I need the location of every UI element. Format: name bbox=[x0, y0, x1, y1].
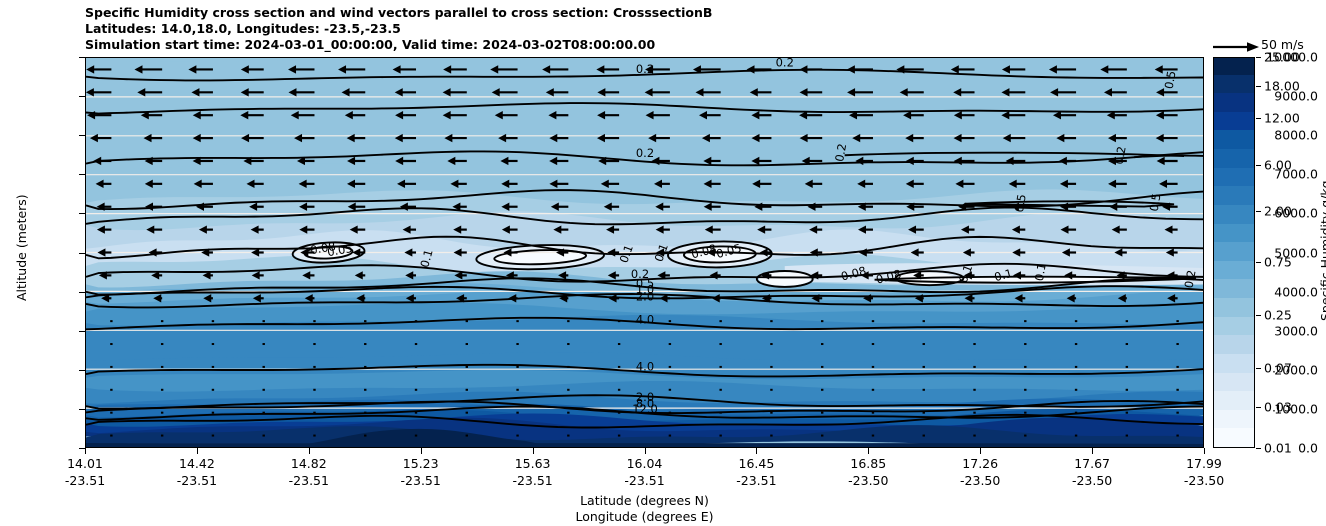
colorbar-band bbox=[1214, 222, 1254, 242]
wind-vector-dot bbox=[1024, 343, 1026, 345]
wind-vector-head bbox=[857, 180, 865, 188]
wind-vector-head bbox=[1155, 65, 1163, 73]
wind-vector-head bbox=[1108, 180, 1116, 188]
wind-vector-dot bbox=[618, 366, 620, 368]
y-tick-mark bbox=[79, 135, 85, 136]
x-tick-mark bbox=[756, 448, 757, 454]
humidity-field: 0.20.20.20.20.20.50.50.50.10.050.080.10.… bbox=[86, 58, 1203, 447]
wind-vector-head bbox=[97, 225, 105, 233]
wind-vector-head bbox=[193, 111, 201, 119]
wind-vector-head bbox=[395, 157, 403, 165]
wind-vector-head bbox=[705, 225, 713, 233]
wind-vector-head bbox=[302, 271, 310, 279]
wind-vector-dot bbox=[415, 343, 417, 345]
wind-vector-dot bbox=[1176, 343, 1178, 345]
wind-vector-head bbox=[799, 65, 807, 73]
wind-vector-dot bbox=[212, 389, 214, 391]
wind-vector-dot bbox=[1075, 389, 1077, 391]
wind-vector-head bbox=[655, 203, 663, 211]
wind-vector-head bbox=[93, 157, 101, 165]
wind-vector-head bbox=[855, 157, 863, 165]
wind-vector-head bbox=[609, 294, 617, 302]
wind-vector-head bbox=[305, 294, 313, 302]
wind-vector-dot bbox=[973, 435, 975, 437]
wind-vector-head bbox=[645, 88, 653, 96]
wind-vector-dot bbox=[1176, 366, 1178, 368]
wind-vector-dot bbox=[923, 412, 925, 414]
wind-vector-head bbox=[951, 65, 959, 73]
x-tick-label-latitude: 16.85 bbox=[850, 456, 886, 471]
wind-vector-dot bbox=[821, 366, 823, 368]
wind-vector-head bbox=[456, 294, 464, 302]
wind-vector-head bbox=[97, 248, 105, 256]
wind-vector-dot bbox=[364, 435, 366, 437]
wind-vector-dot bbox=[1024, 435, 1026, 437]
wind-vector-dot bbox=[1075, 320, 1077, 322]
wind-vector-dot bbox=[618, 412, 620, 414]
wind-vector-head bbox=[199, 225, 207, 233]
wind-vector-head bbox=[1162, 203, 1170, 211]
y-tick-mark bbox=[79, 96, 85, 97]
wind-vector-head bbox=[656, 225, 664, 233]
wind-vector-head bbox=[606, 225, 614, 233]
wind-vector-dot bbox=[516, 343, 518, 345]
wind-vector-dot bbox=[263, 412, 265, 414]
wind-vector-head bbox=[141, 111, 149, 119]
x-tick-label-longitude: -23.51 bbox=[512, 473, 552, 488]
wind-vector-head bbox=[810, 271, 818, 279]
wind-vector-head bbox=[146, 225, 154, 233]
colorbar[interactable] bbox=[1213, 57, 1255, 448]
wind-vector-head bbox=[1011, 203, 1019, 211]
wind-vector-dot bbox=[719, 320, 721, 322]
wind-vector-head bbox=[453, 225, 461, 233]
wind-vector-dot bbox=[1075, 366, 1077, 368]
wind-vector-head bbox=[954, 134, 962, 142]
wind-vector-head bbox=[896, 65, 904, 73]
wind-vector-dot bbox=[1126, 320, 1128, 322]
wind-vector-head bbox=[906, 203, 914, 211]
x-tick-mark bbox=[868, 448, 869, 454]
wind-vector-head bbox=[1049, 65, 1057, 73]
wind-vector-head bbox=[400, 203, 408, 211]
colorbar-tick-label: 2.00 bbox=[1264, 204, 1292, 219]
x-tick-label-longitude: -23.51 bbox=[177, 473, 217, 488]
wind-vector-dot bbox=[618, 389, 620, 391]
wind-vector-head bbox=[338, 65, 346, 73]
wind-vector-head bbox=[597, 88, 605, 96]
wind-vector-head bbox=[241, 88, 249, 96]
wind-vector-head bbox=[808, 203, 816, 211]
wind-vector-head bbox=[858, 225, 866, 233]
wind-vector-head bbox=[288, 88, 296, 96]
wind-vector-dot bbox=[1176, 435, 1178, 437]
wind-vector-head bbox=[859, 248, 867, 256]
wind-vector-dot bbox=[364, 389, 366, 391]
wind-vector-dot bbox=[110, 389, 112, 391]
y-tick-label: 3000.0 bbox=[1274, 323, 1318, 338]
wind-vector-head bbox=[852, 134, 860, 142]
wind-vector-head bbox=[134, 65, 142, 73]
wind-vector-dot bbox=[364, 320, 366, 322]
wind-vector-dot bbox=[1075, 435, 1077, 437]
colorbar-band bbox=[1214, 148, 1254, 168]
wind-vector-head bbox=[704, 203, 712, 211]
colorbar-tick-mark bbox=[1256, 262, 1261, 263]
wind-vector-head bbox=[656, 248, 664, 256]
wind-vector-head bbox=[559, 294, 567, 302]
wind-vector-head bbox=[597, 111, 605, 119]
wind-vector-head bbox=[955, 180, 963, 188]
colorbar-tick-mark bbox=[1256, 407, 1261, 408]
wind-vector-head bbox=[556, 248, 564, 256]
x-tick-label-latitude: 14.82 bbox=[291, 456, 327, 471]
colorbar-band bbox=[1214, 427, 1254, 447]
wind-vector-head bbox=[1118, 294, 1126, 302]
wind-vector-head bbox=[961, 225, 969, 233]
y-tick-mark bbox=[79, 331, 85, 332]
wind-vector-dot bbox=[1024, 389, 1026, 391]
y-tick-mark bbox=[79, 370, 85, 371]
x-tick-label-latitude: 17.99 bbox=[1186, 456, 1222, 471]
wind-vector-head bbox=[908, 225, 916, 233]
wind-vector-dot bbox=[872, 389, 874, 391]
wind-vector-head bbox=[342, 88, 350, 96]
colorbar-band bbox=[1214, 57, 1254, 75]
colorbar-band bbox=[1214, 241, 1254, 261]
y-tick-label: 8000.0 bbox=[1274, 128, 1318, 143]
wind-vector-head bbox=[299, 180, 307, 188]
x-tick-label-longitude: -23.50 bbox=[848, 473, 888, 488]
wind-vector-dot bbox=[466, 435, 468, 437]
wind-vector-dot bbox=[1126, 435, 1128, 437]
title-line-1: Specific Humidity cross section and wind… bbox=[85, 5, 1215, 21]
wind-vector-head bbox=[397, 180, 405, 188]
colorbar-tick-mark bbox=[1256, 86, 1261, 87]
wind-vector-head bbox=[900, 88, 908, 96]
right-arrow-icon bbox=[1213, 40, 1259, 54]
wind-vector-dot bbox=[516, 435, 518, 437]
x-tick-mark bbox=[1204, 448, 1205, 454]
wind-vector-dot bbox=[567, 343, 569, 345]
wind-vector-head bbox=[549, 134, 557, 142]
wind-vector-dot bbox=[212, 366, 214, 368]
wind-vector-head bbox=[151, 271, 159, 279]
colorbar-tick-label: 12.00 bbox=[1264, 110, 1300, 125]
wind-vector-head bbox=[657, 271, 665, 279]
wind-vector-head bbox=[194, 180, 202, 188]
wind-vector-head bbox=[1015, 294, 1023, 302]
wind-vector-dot bbox=[669, 320, 671, 322]
wind-vector-dot bbox=[263, 366, 265, 368]
wind-vector-dot bbox=[415, 320, 417, 322]
wind-vector-head bbox=[193, 134, 201, 142]
wind-vector-head bbox=[447, 157, 455, 165]
colorbar-band bbox=[1214, 334, 1254, 354]
wind-vector-dot bbox=[466, 412, 468, 414]
wind-vector-dot bbox=[770, 412, 772, 414]
wind-vector-dot bbox=[821, 435, 823, 437]
wind-vector-head bbox=[1107, 111, 1115, 119]
wind-vector-head bbox=[1053, 111, 1061, 119]
colorbar-tick-label: 0.75 bbox=[1264, 255, 1292, 270]
wind-vector-head bbox=[352, 248, 360, 256]
wind-vector-head bbox=[646, 111, 654, 119]
wind-vector-dot bbox=[872, 366, 874, 368]
wind-vector-head bbox=[288, 65, 296, 73]
wind-vector-head bbox=[1064, 271, 1072, 279]
wind-vector-dot bbox=[1126, 343, 1128, 345]
wind-vector-head bbox=[1060, 203, 1068, 211]
wind-vector-dot bbox=[466, 320, 468, 322]
wind-vector-head bbox=[703, 157, 711, 165]
wind-vector-dot bbox=[567, 320, 569, 322]
x-axis-label-longitude: Longitude (degrees E) bbox=[575, 509, 713, 524]
colorbar-tick-label: 18.00 bbox=[1264, 79, 1300, 94]
wind-vector-head bbox=[702, 134, 710, 142]
wind-vector-head bbox=[498, 134, 506, 142]
wind-vector-dot bbox=[415, 389, 417, 391]
colorbar-band bbox=[1214, 408, 1254, 428]
wind-vector-head bbox=[964, 294, 972, 302]
wind-vector-head bbox=[443, 88, 451, 96]
wind-vector-head bbox=[395, 111, 403, 119]
wind-vector-head bbox=[799, 111, 807, 119]
wind-vector-head bbox=[404, 248, 412, 256]
wind-vector-head bbox=[240, 111, 248, 119]
wind-vector-dot bbox=[364, 412, 366, 414]
wind-vector-head bbox=[249, 203, 257, 211]
wind-vector-dot bbox=[516, 320, 518, 322]
wind-vector-dot bbox=[466, 366, 468, 368]
colorbar-band bbox=[1214, 315, 1254, 335]
wind-vector-head bbox=[548, 111, 556, 119]
wind-vector-head bbox=[299, 225, 307, 233]
wind-vector-head bbox=[356, 294, 364, 302]
wind-vector-head bbox=[597, 134, 605, 142]
wind-vector-head bbox=[144, 134, 152, 142]
wind-vector-head bbox=[1067, 294, 1075, 302]
wind-vector-head bbox=[501, 203, 509, 211]
wind-vector-head bbox=[802, 157, 810, 165]
wind-vector-head bbox=[291, 111, 299, 119]
wind-vector-dot bbox=[1126, 389, 1128, 391]
wind-vector-head bbox=[915, 294, 923, 302]
wind-vector-head bbox=[350, 225, 358, 233]
wind-vector-dot bbox=[669, 366, 671, 368]
x-tick-label-latitude: 15.63 bbox=[515, 456, 551, 471]
wind-vector-head bbox=[1156, 134, 1164, 142]
wind-vector-dot bbox=[313, 320, 315, 322]
wind-vector-head bbox=[201, 248, 209, 256]
wind-vector-dot bbox=[770, 343, 772, 345]
wind-vector-dot bbox=[923, 320, 925, 322]
wind-vector-head bbox=[800, 134, 808, 142]
wind-vector-head bbox=[454, 248, 462, 256]
title-line-2: Latitudes: 14.0,18.0, Longitudes: -23.5,… bbox=[85, 21, 1215, 37]
wind-vector-head bbox=[86, 65, 94, 73]
colorbar-band bbox=[1214, 110, 1254, 130]
y-axis-label: Altitude (meters) bbox=[14, 194, 29, 301]
x-tick-mark bbox=[645, 448, 646, 454]
wind-vector-head bbox=[905, 134, 913, 142]
wind-vector-head bbox=[954, 111, 962, 119]
wind-vector-head bbox=[1001, 111, 1009, 119]
wind-vector-head bbox=[1165, 225, 1173, 233]
wind-vector-head bbox=[1003, 134, 1011, 142]
wind-vector-head bbox=[805, 180, 813, 188]
colorbar-band bbox=[1214, 278, 1254, 298]
wind-vector-dot bbox=[263, 320, 265, 322]
wind-vector-head bbox=[405, 271, 413, 279]
wind-vector-head bbox=[1108, 134, 1116, 142]
y-tick-mark bbox=[79, 213, 85, 214]
colorbar-band bbox=[1214, 129, 1254, 149]
wind-vector-head bbox=[1059, 157, 1067, 165]
wind-vector-head bbox=[558, 271, 566, 279]
colorbar-band bbox=[1214, 353, 1254, 373]
y-tick-mark bbox=[79, 409, 85, 410]
wind-vector-dot bbox=[1126, 366, 1128, 368]
x-tick-label-longitude: -23.51 bbox=[289, 473, 329, 488]
wind-vector-dot bbox=[669, 435, 671, 437]
wind-vector-dot bbox=[1176, 320, 1178, 322]
wind-vector-head bbox=[752, 134, 760, 142]
wind-vector-head bbox=[1156, 88, 1164, 96]
wind-vector-dot bbox=[516, 412, 518, 414]
wind-vector-head bbox=[712, 294, 720, 302]
x-tick-mark bbox=[980, 448, 981, 454]
wind-vector-dot bbox=[567, 366, 569, 368]
wind-vector-head bbox=[96, 180, 104, 188]
wind-vector-head bbox=[953, 88, 961, 96]
wind-vector-head bbox=[247, 180, 255, 188]
wind-vector-dot bbox=[770, 366, 772, 368]
x-tick-label-latitude: 17.67 bbox=[1074, 456, 1110, 471]
wind-vector-dot bbox=[313, 343, 315, 345]
x-tick-label-longitude: -23.51 bbox=[736, 473, 776, 488]
wind-vector-head bbox=[502, 225, 510, 233]
wind-vector-head bbox=[752, 180, 760, 188]
colorbar-band bbox=[1214, 166, 1254, 186]
wind-vector-dot bbox=[212, 320, 214, 322]
wind-vector-dot bbox=[263, 435, 265, 437]
colorbar-band bbox=[1214, 371, 1254, 391]
wind-vector-head bbox=[1056, 134, 1064, 142]
wind-vector-head bbox=[137, 88, 145, 96]
y-tick-label: 4000.0 bbox=[1274, 284, 1318, 299]
x-tick-label-latitude: 15.23 bbox=[403, 456, 439, 471]
wind-vector-head bbox=[551, 203, 559, 211]
colorbar-tick-label: 0.07 bbox=[1264, 360, 1292, 375]
wind-vector-head bbox=[355, 271, 363, 279]
wind-vector-dot bbox=[466, 389, 468, 391]
wind-vector-dot bbox=[618, 320, 620, 322]
figure-title: Specific Humidity cross section and wind… bbox=[85, 5, 1215, 54]
colorbar-tick-label: 0.03 bbox=[1264, 399, 1292, 414]
wind-vector-dot bbox=[973, 343, 975, 345]
wind-vector-dot bbox=[872, 343, 874, 345]
wind-vector-dot bbox=[1075, 343, 1077, 345]
wind-vector-head bbox=[660, 294, 668, 302]
wind-vector-head bbox=[762, 294, 770, 302]
wind-vector-head bbox=[542, 65, 550, 73]
wind-vector-dot bbox=[923, 389, 925, 391]
y-tick-mark bbox=[79, 174, 85, 175]
colorbar-tick-mark bbox=[1256, 448, 1261, 449]
wind-vector-head bbox=[90, 134, 98, 142]
wind-vector-dot bbox=[1126, 412, 1128, 414]
wind-vector-dot bbox=[161, 343, 163, 345]
wind-vector-head bbox=[1001, 88, 1009, 96]
wind-vector-head bbox=[810, 248, 818, 256]
wind-vector-head bbox=[501, 180, 509, 188]
x-tick-mark bbox=[1092, 448, 1093, 454]
x-tick-label-longitude: -23.50 bbox=[960, 473, 1000, 488]
wind-vector-head bbox=[1062, 248, 1070, 256]
cross-section-plot[interactable]: 0.20.20.20.20.20.50.50.50.10.050.080.10.… bbox=[85, 57, 1204, 448]
wind-vector-head bbox=[549, 157, 557, 165]
wind-vector-head bbox=[86, 88, 94, 96]
colorbar-tick-label: 0.25 bbox=[1264, 308, 1292, 323]
wind-vector-dot bbox=[618, 435, 620, 437]
wind-vector-head bbox=[145, 157, 153, 165]
wind-vector-head bbox=[1167, 294, 1175, 302]
wind-vector-head bbox=[1050, 88, 1058, 96]
y-tick-mark bbox=[79, 253, 85, 254]
y-tick-mark bbox=[79, 57, 85, 58]
colorbar-tick-label: 25.00 bbox=[1264, 50, 1300, 65]
colorbar-tick-mark bbox=[1256, 315, 1261, 316]
wind-vector-head bbox=[1013, 271, 1021, 279]
wind-vector-dot bbox=[669, 412, 671, 414]
wind-vector-dot bbox=[973, 366, 975, 368]
colorbar-tick-label: 0.01 bbox=[1264, 441, 1292, 456]
wind-vector-dot bbox=[110, 320, 112, 322]
wind-vector-head bbox=[196, 203, 204, 211]
wind-vector-dot bbox=[161, 435, 163, 437]
wind-vector-dot bbox=[973, 389, 975, 391]
wind-vector-dot bbox=[212, 343, 214, 345]
x-tick-label-longitude: -23.50 bbox=[1072, 473, 1112, 488]
wind-vector-dot bbox=[872, 435, 874, 437]
wind-vector-dot bbox=[1024, 412, 1026, 414]
wind-vector-head bbox=[1006, 157, 1014, 165]
colorbar-band bbox=[1214, 185, 1254, 205]
wind-vector-head bbox=[149, 248, 157, 256]
wind-vector-head bbox=[506, 271, 514, 279]
wind-vector-dot bbox=[821, 343, 823, 345]
wind-vector-head bbox=[253, 294, 261, 302]
wind-vector-dot bbox=[872, 412, 874, 414]
colorbar-tick-mark bbox=[1256, 57, 1261, 58]
wind-vector-dot bbox=[770, 320, 772, 322]
wind-vector-head bbox=[1002, 65, 1010, 73]
wind-vector-dot bbox=[516, 389, 518, 391]
wind-vector-dot bbox=[313, 389, 315, 391]
x-tick-mark bbox=[421, 448, 422, 454]
wind-vector-head bbox=[444, 134, 452, 142]
wind-vector-head bbox=[800, 88, 808, 96]
wind-vector-head bbox=[395, 88, 403, 96]
wind-vector-head bbox=[348, 203, 356, 211]
wind-vector-head bbox=[403, 225, 411, 233]
wind-vector-dot bbox=[923, 343, 925, 345]
wind-vector-dot bbox=[364, 366, 366, 368]
wind-vector-dot bbox=[466, 343, 468, 345]
wind-vector-head bbox=[1157, 157, 1165, 165]
wind-vector-head bbox=[906, 180, 914, 188]
